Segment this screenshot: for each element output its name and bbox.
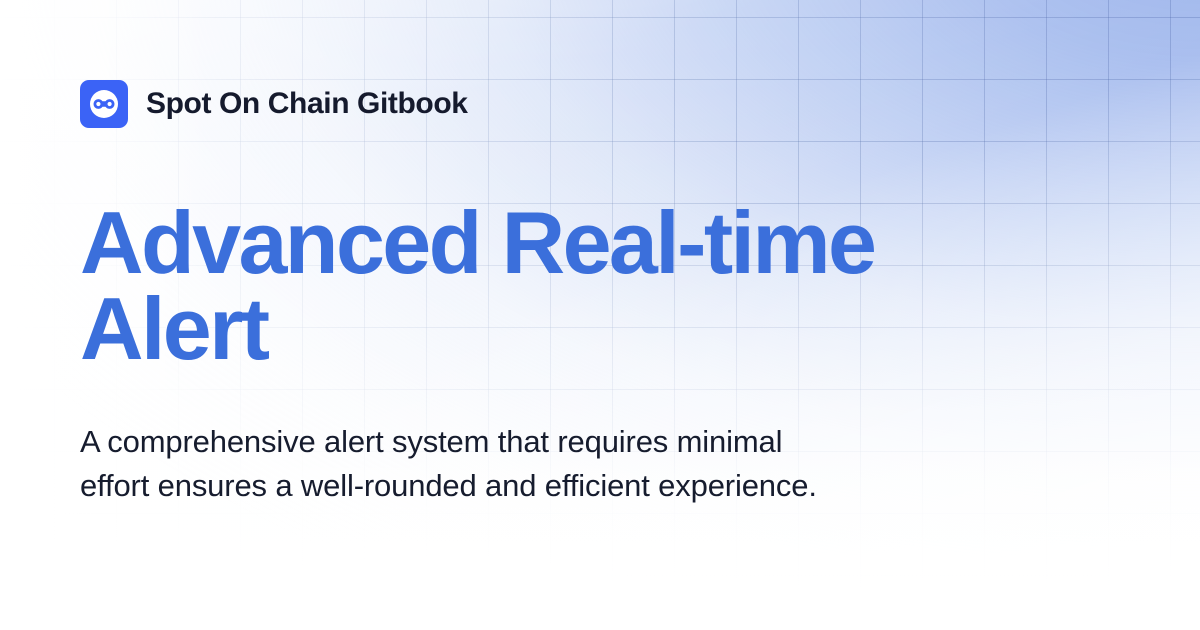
og-card: Spot On Chain Gitbook Advanced Real-time… xyxy=(0,0,1200,630)
page-description: A comprehensive alert system that requir… xyxy=(80,420,850,508)
brand-logo xyxy=(80,80,128,128)
brand-title: Spot On Chain Gitbook xyxy=(146,87,468,121)
card-content: Spot On Chain Gitbook Advanced Real-time… xyxy=(0,0,1200,630)
goggles-icon xyxy=(87,87,121,121)
brand: Spot On Chain Gitbook xyxy=(80,80,1120,128)
page-title: Advanced Real-time Alert xyxy=(80,200,1020,372)
